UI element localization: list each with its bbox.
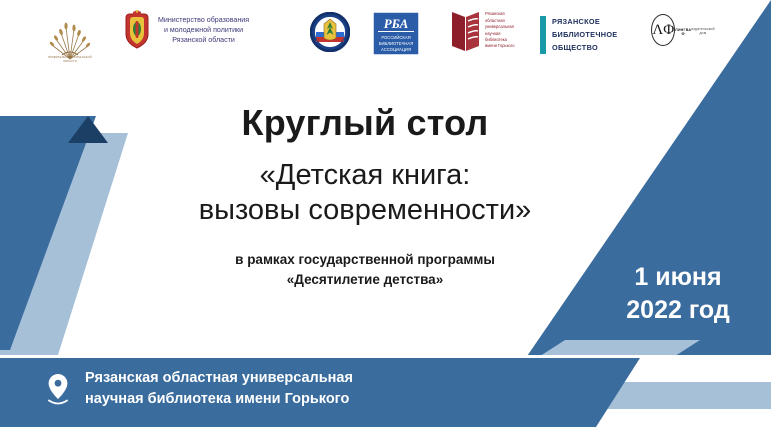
- sponsor-logo-strip: ПРАВИТЕЛЬСТВО РЯЗАНСКОЙ ОБЛАСТИ Министер…: [0, 0, 771, 86]
- logo-round-seal: [310, 12, 350, 52]
- society-line-2: БИБЛИОТЕЧНОЕ: [552, 30, 617, 39]
- logo-rba-association: РБА РОССИЙСКАЯ БИБЛИОТЕЧНАЯ АССОЦИАЦИЯ: [372, 11, 420, 56]
- event-subtitle: «Детская книга: вызовы современности»: [150, 158, 580, 229]
- logo-gorky-library: Рязанская областная универсальная научна…: [450, 8, 515, 53]
- event-date: 1 июня 2022 год: [613, 261, 743, 326]
- venue-footer: Рязанская областная универсальная научна…: [45, 368, 353, 410]
- lf-caption-2: издательский дом: [691, 27, 715, 35]
- footer-top-hairline: [0, 355, 771, 358]
- ministry-line-3: Рязанской области: [172, 36, 235, 44]
- lf-caption-1: ЛИНГВА Ф: [675, 28, 691, 36]
- seal-icon: [310, 12, 350, 52]
- library-line-4: научная: [485, 31, 500, 36]
- library-line-1: Рязанская: [485, 11, 505, 16]
- svg-text:РБА: РБА: [384, 16, 409, 31]
- library-line-2: областная: [485, 18, 505, 23]
- location-pin-icon: [45, 373, 71, 405]
- subtitle-line-1: «Детская книга:: [150, 158, 580, 193]
- venue-line-1: Рязанская областная универсальная: [85, 368, 353, 389]
- svg-text:РОССИЙСКАЯ: РОССИЙСКАЯ: [381, 35, 410, 40]
- coat-of-arms-icon: [122, 10, 152, 50]
- program-line-1: в рамках государственной программы: [150, 250, 580, 271]
- date-line-2: 2022 год: [613, 294, 743, 327]
- rba-icon: РБА РОССИЙСКАЯ БИБЛИОТЕЧНАЯ АССОЦИАЦИЯ: [372, 11, 420, 56]
- library-line-3: универсальная: [485, 24, 514, 29]
- logo-society-caption: РЯЗАНСКОЕ БИБЛИОТЕЧНОЕ ОБЩЕСТВО: [552, 16, 617, 54]
- footer-accent-bottom: [605, 382, 771, 409]
- open-book-icon: [450, 8, 482, 53]
- library-line-6: имени Горького: [485, 43, 515, 48]
- logo-wheat-caption: ПРАВИТЕЛЬСТВО РЯЗАНСКОЙ ОБЛАСТИ: [42, 56, 98, 64]
- venue-name: Рязанская областная универсальная научна…: [85, 368, 353, 410]
- program-line-2: «Десятилетие детства»: [150, 270, 580, 291]
- society-line-3: ОБЩЕСТВО: [552, 43, 598, 52]
- subtitle-line-2: вызовы современности»: [150, 193, 580, 228]
- lf-monogram: ΛΦ: [651, 14, 675, 46]
- library-line-5: библиотека: [485, 37, 507, 42]
- logo-wheat-emblem: ПРАВИТЕЛЬСТВО РЯЗАНСКОЙ ОБЛАСТИ: [42, 8, 98, 70]
- society-accent-bar: [540, 16, 546, 54]
- ministry-line-2: и молодежной политики: [164, 26, 243, 34]
- program-note: в рамках государственной программы «Деся…: [150, 250, 580, 292]
- logo-ryazan-library-society: РЯЗАНСКОЕ БИБЛИОТЕЧНОЕ ОБЩЕСТВО: [540, 16, 617, 54]
- poster-slide: ПРАВИТЕЛЬСТВО РЯЗАНСКОЙ ОБЛАСТИ Министер…: [0, 0, 771, 427]
- society-line-1: РЯЗАНСКОЕ: [552, 17, 600, 26]
- main-content: Круглый стол «Детская книга: вызовы совр…: [150, 104, 580, 291]
- svg-text:АССОЦИАЦИЯ: АССОЦИАЦИЯ: [381, 47, 411, 52]
- venue-line-2: научная библиотека имени Горького: [85, 389, 353, 410]
- ministry-line-1: Министерство образования: [158, 16, 249, 24]
- logo-library-caption: Рязанская областная универсальная научна…: [485, 11, 515, 49]
- svg-text:БИБЛИОТЕЧНАЯ: БИБЛИОТЕЧНАЯ: [379, 41, 414, 46]
- logo-ministry-of-education: Министерство образования и молодежной по…: [122, 10, 249, 50]
- date-line-1: 1 июня: [613, 261, 743, 294]
- logo-lingva-f-publishing: ΛΦ ЛИНГВА Ф издательский дом: [655, 14, 711, 46]
- logo-ministry-caption: Министерство образования и молодежной по…: [158, 15, 249, 46]
- event-title: Круглый стол: [150, 104, 580, 142]
